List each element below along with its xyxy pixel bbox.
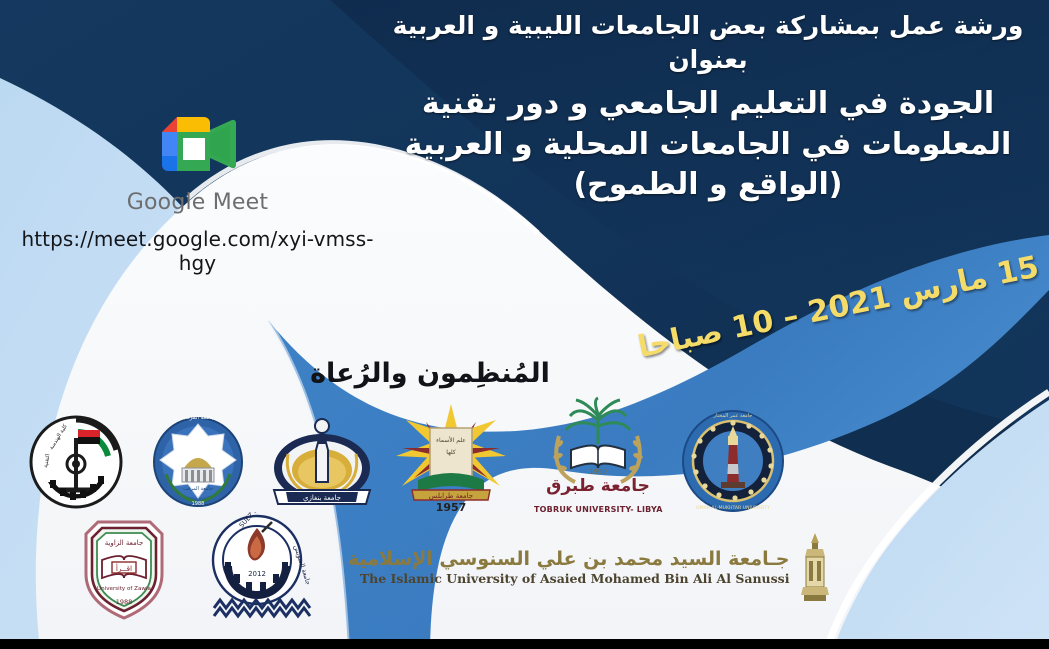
palm-book-wreath-emblem-icon: 1990 جامعة طبرق [537, 396, 659, 504]
lighthouse-circle-emblem-icon: جامعة عمر المختار OMAR AL-MUKHTAR UNIVER… [677, 408, 789, 514]
svg-text:علم الأسماء: علم الأسماء [436, 436, 466, 444]
bottom-black-bar [0, 639, 1049, 649]
poster-root: ورشة عمل بمشاركة بعض الجامعات الليبية و … [0, 0, 1049, 649]
sponsors-heading: المُنظِمون والرُعاة [300, 358, 560, 389]
sunburst-book-emblem-icon: علم الأسماء كلها جامعة طرابلس 1957 [392, 398, 510, 514]
svg-text:جامعة الزاوية: جامعة الزاوية [105, 539, 144, 547]
svg-text:جامعة عمر المختار: جامعة عمر المختار [712, 413, 752, 419]
shield-book-emblem-icon: اقــرأ جامعة الزاوية University of Zawia… [72, 512, 176, 622]
sponsor-logo-row-2: اقــرأ جامعة الزاوية University of Zawia… [72, 512, 812, 622]
svg-text:1990: 1990 [589, 468, 607, 476]
sponsor-logo-row-1: كلية الهندسة التقنية [22, 396, 842, 514]
google-meet-block: Google Meet https://meet.google.com/xyi-… [20, 108, 375, 275]
svg-text:1988: 1988 [192, 501, 205, 507]
svg-text:جامعة المرقب: جامعة المرقب [183, 486, 213, 492]
torch-gear-waves-emblem-icon: 2012 SUEZ UNIVERSITY جامعة السويس [198, 512, 316, 622]
title-main-line-1: الجودة في التعليم الجامعي و دور تقنية [370, 84, 1046, 124]
sponsor-logo-islamic-university-al-sanussi: جـامعة السيد محمد بن علي السنوسي الإسلام… [348, 531, 835, 603]
sponsor-logo-university-of-al-mergib: جامعة المرقب 1988 جامعة المرقب [144, 410, 252, 514]
sponsor-logo-college-engineering-tech: كلية الهندسة التقنية [22, 410, 130, 514]
sponsor-logo-omar-al-mukhtar-university: جامعة عمر المختار OMAR AL-MUKHTAR UNIVER… [677, 408, 789, 514]
star-dome-emblem-icon: جامعة المرقب 1988 جامعة المرقب [144, 410, 252, 514]
title-line-1: ورشة عمل بمشاركة بعض الجامعات الليبية و … [370, 10, 1046, 42]
svg-text:اقــرأ: اقــرأ [116, 563, 132, 573]
svg-text:OMAR AL-MUKHTAR UNIVERSITY: OMAR AL-MUKHTAR UNIVERSITY [696, 505, 770, 511]
svg-text:كلها: كلها [446, 449, 456, 456]
google-meet-url[interactable]: https://meet.google.com/xyi-vmss-hgy [20, 227, 375, 275]
svg-text:1988: 1988 [116, 598, 133, 606]
svg-text:جامعة بنغازي: جامعة بنغازي [303, 494, 341, 502]
sponsor-logo-tobruk-university: 1990 جامعة طبرق TOBRUK UNIVERSITY- LIBYA [534, 396, 663, 514]
svg-text:جامعة طرابلس: جامعة طرابلس [429, 492, 473, 500]
pen-laurel-crown-emblem-icon: جامعة بنغازي [266, 410, 378, 514]
svg-text:جامعة المرقب: جامعة المرقب [182, 415, 214, 421]
title-line-2: بعنوان [370, 44, 1046, 76]
gear-flag-emblem-icon: كلية الهندسة التقنية [22, 410, 130, 514]
google-meet-label: Google Meet [20, 190, 375, 215]
svg-text:جامعة طبرق: جامعة طبرق [546, 476, 650, 496]
title-main-line-3: (الواقع و الطموح) [370, 166, 1046, 204]
sponsor-logo-university-of-zawia: اقــرأ جامعة الزاوية University of Zawia… [72, 512, 176, 622]
svg-text:2012: 2012 [248, 570, 266, 578]
sponsor-logo-university-of-benghazi: جامعة بنغازي [266, 410, 378, 514]
islamic-university-name-ar: جـامعة السيد محمد بن علي السنوسي الإسلام… [348, 548, 789, 570]
minaret-lantern-emblem-icon [795, 531, 835, 603]
google-meet-logo-icon [152, 108, 244, 180]
svg-text:University of Zawia: University of Zawia [97, 586, 151, 592]
islamic-university-name-en: The Islamic University of Asaied Mohamed… [360, 571, 790, 586]
poster-title-block: ورشة عمل بمشاركة بعض الجامعات الليبية و … [370, 10, 1046, 204]
sponsor-logo-suez-university: 2012 SUEZ UNIVERSITY جامعة السويس [198, 512, 316, 622]
title-main-line-2: المعلومات في الجامعات المحلية و العربية [370, 126, 1046, 164]
sponsor-logo-university-of-tripoli: علم الأسماء كلها جامعة طرابلس 1957 [392, 398, 510, 514]
